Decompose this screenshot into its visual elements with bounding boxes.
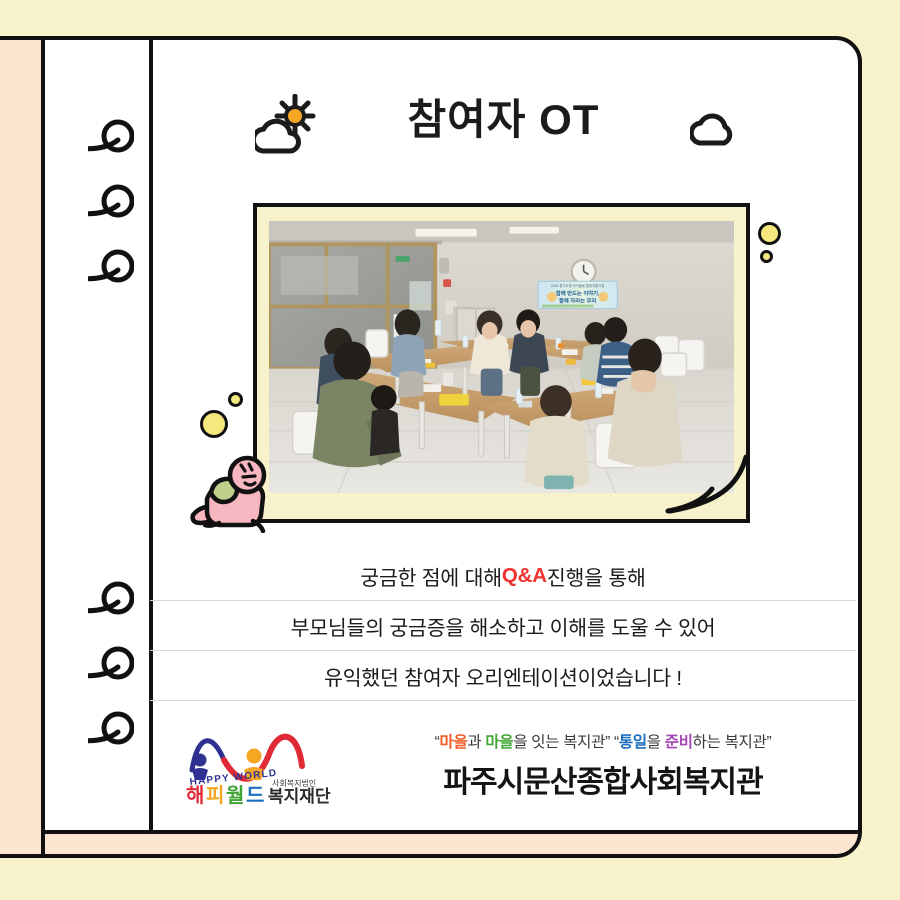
spiral-ring: [88, 645, 134, 685]
svg-text:드: 드: [246, 785, 264, 806]
caption-line-1: 궁금한 점에 대해 Q&A 진행을 통해: [150, 551, 856, 600]
spiral-ring: [88, 183, 134, 223]
spiral-ring: [88, 118, 134, 158]
caption-list: 궁금한 점에 대해 Q&A 진행을 통해 부모님들의 궁금증을 해소하고 이해를…: [150, 551, 856, 701]
quote-close-1: ”: [605, 734, 610, 751]
caption-highlight-qa: Q&A: [502, 564, 547, 588]
meeting-room-illustration: 2025 경기도형 아이돌봄 통합지원사업 함께 만드는 이야기, 함께 자라는…: [269, 221, 734, 493]
svg-text:해: 해: [186, 784, 204, 806]
photo-frame: 2025 경기도형 아이돌봄 통합지원사업 함께 만드는 이야기, 함께 자라는…: [253, 203, 750, 523]
decor-circle-small: [228, 392, 243, 407]
organization-block: “마을과 마을을 잇는 복지관” “통일을 준비하는 복지관” 파주시문산종합사…: [350, 730, 856, 801]
svg-text:함께 만드는 이야기,: 함께 만드는 이야기,: [556, 289, 600, 297]
logo-sub: 복지재단: [268, 787, 331, 806]
svg-text:월: 월: [226, 784, 244, 806]
caption-line-2: 부모님들의 궁금증을 해소하고 이해를 도울 수 있어: [150, 600, 856, 650]
svg-text:함께 자라는 우리: 함께 자라는 우리: [559, 297, 596, 305]
header: 참여자 OT: [145, 86, 862, 166]
spiral-ring: [88, 710, 134, 750]
caption-line-1-before: 궁금한 점에 대해: [360, 561, 502, 591]
organization-tagline: “마을과 마을을 잇는 복지관” “통일을 준비하는 복지관”: [350, 730, 856, 752]
cloud-icon: [690, 108, 748, 153]
quote-close-2: ”: [766, 734, 771, 751]
tagline-word-3: 통일: [619, 734, 647, 751]
svg-text:피: 피: [206, 784, 224, 806]
footer: HAPPY WORLD 해 피 월 드 사회복지법인 복지재단 “마을과 마을을…: [150, 724, 856, 824]
tagline-word-1: 마을: [440, 734, 468, 751]
spiral-ring: [88, 580, 134, 620]
tagline-text-4: 하는 복지관: [693, 734, 767, 751]
event-photo: 2025 경기도형 아이돌봄 통합지원사업 함께 만드는 이야기, 함께 자라는…: [269, 221, 734, 493]
tagline-text-1: 과: [467, 734, 485, 751]
caption-line-1-after: 진행을 통해: [547, 561, 646, 591]
spiral-ring: [88, 248, 134, 288]
tagline-text-2: 을 잇는 복지관: [513, 734, 605, 751]
page-title: 참여자 OT: [145, 86, 862, 154]
tagline-word-4: 준비: [665, 734, 693, 751]
decor-circle-large: [758, 222, 781, 245]
happy-world-logo: HAPPY WORLD 해 피 월 드 사회복지법인 복지재단: [182, 726, 357, 806]
tagline-text-3: 을: [647, 734, 665, 751]
page-bottom-band: [45, 830, 858, 854]
decor-circle-large: [200, 410, 228, 438]
crawling-baby-sticker: [185, 443, 280, 533]
caption-line-3: 유익했던 참여자 오리엔테이션이었습니다 !: [150, 650, 856, 701]
organization-name: 파주시문산종합사회복지관: [350, 757, 856, 801]
svg-text:2025 경기도형 아이돌봄 통합지원사업: 2025 경기도형 아이돌봄 통합지원사업: [551, 283, 605, 288]
tagline-word-2: 마을: [485, 734, 513, 751]
decor-circle-small: [760, 250, 773, 263]
notebook-spine-strip: [0, 36, 41, 858]
